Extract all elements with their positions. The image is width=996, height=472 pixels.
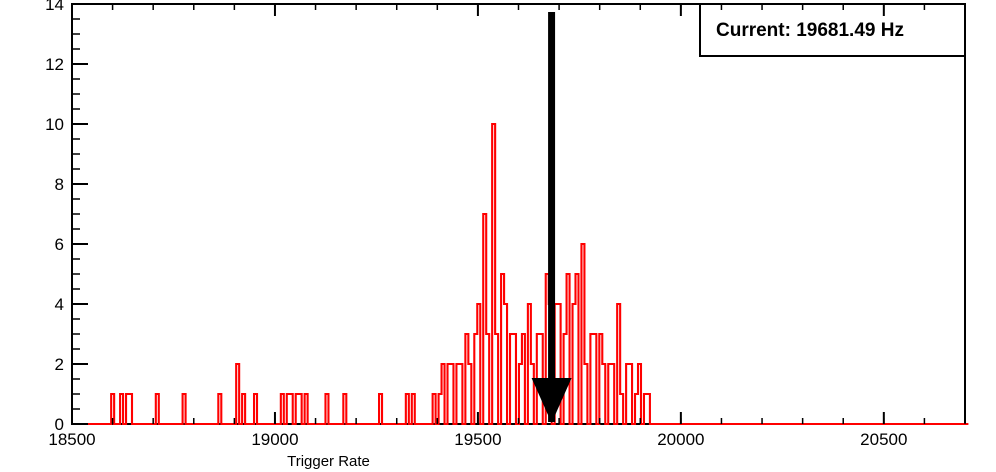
y-tick-label: 2 (55, 355, 64, 374)
axes (72, 4, 965, 424)
x-tick-label: 20000 (657, 430, 704, 449)
y-tick-label: 10 (45, 115, 64, 134)
x-axis-title: Trigger Rate (287, 453, 370, 470)
y-tick-label: 12 (45, 55, 64, 74)
axis-labels: 185001900019500200002050002468101214Trig… (45, 0, 907, 470)
x-tick-label: 20500 (860, 430, 907, 449)
y-tick-label: 4 (55, 295, 64, 314)
y-tick-label: 6 (55, 235, 64, 254)
histogram-series (72, 124, 968, 424)
plot-frame (72, 4, 965, 424)
stat-box-title: Current: 19681.49 Hz (716, 20, 904, 42)
trigger-rate-histogram: 185001900019500200002050002468101214Trig… (0, 0, 996, 472)
x-tick-label: 19500 (454, 430, 501, 449)
y-tick-label: 14 (45, 0, 64, 14)
x-tick-label: 19000 (251, 430, 298, 449)
root-canvas: 185001900019500200002050002468101214Trig… (0, 0, 996, 472)
y-tick-label: 0 (55, 415, 64, 434)
y-tick-label: 8 (55, 175, 64, 194)
